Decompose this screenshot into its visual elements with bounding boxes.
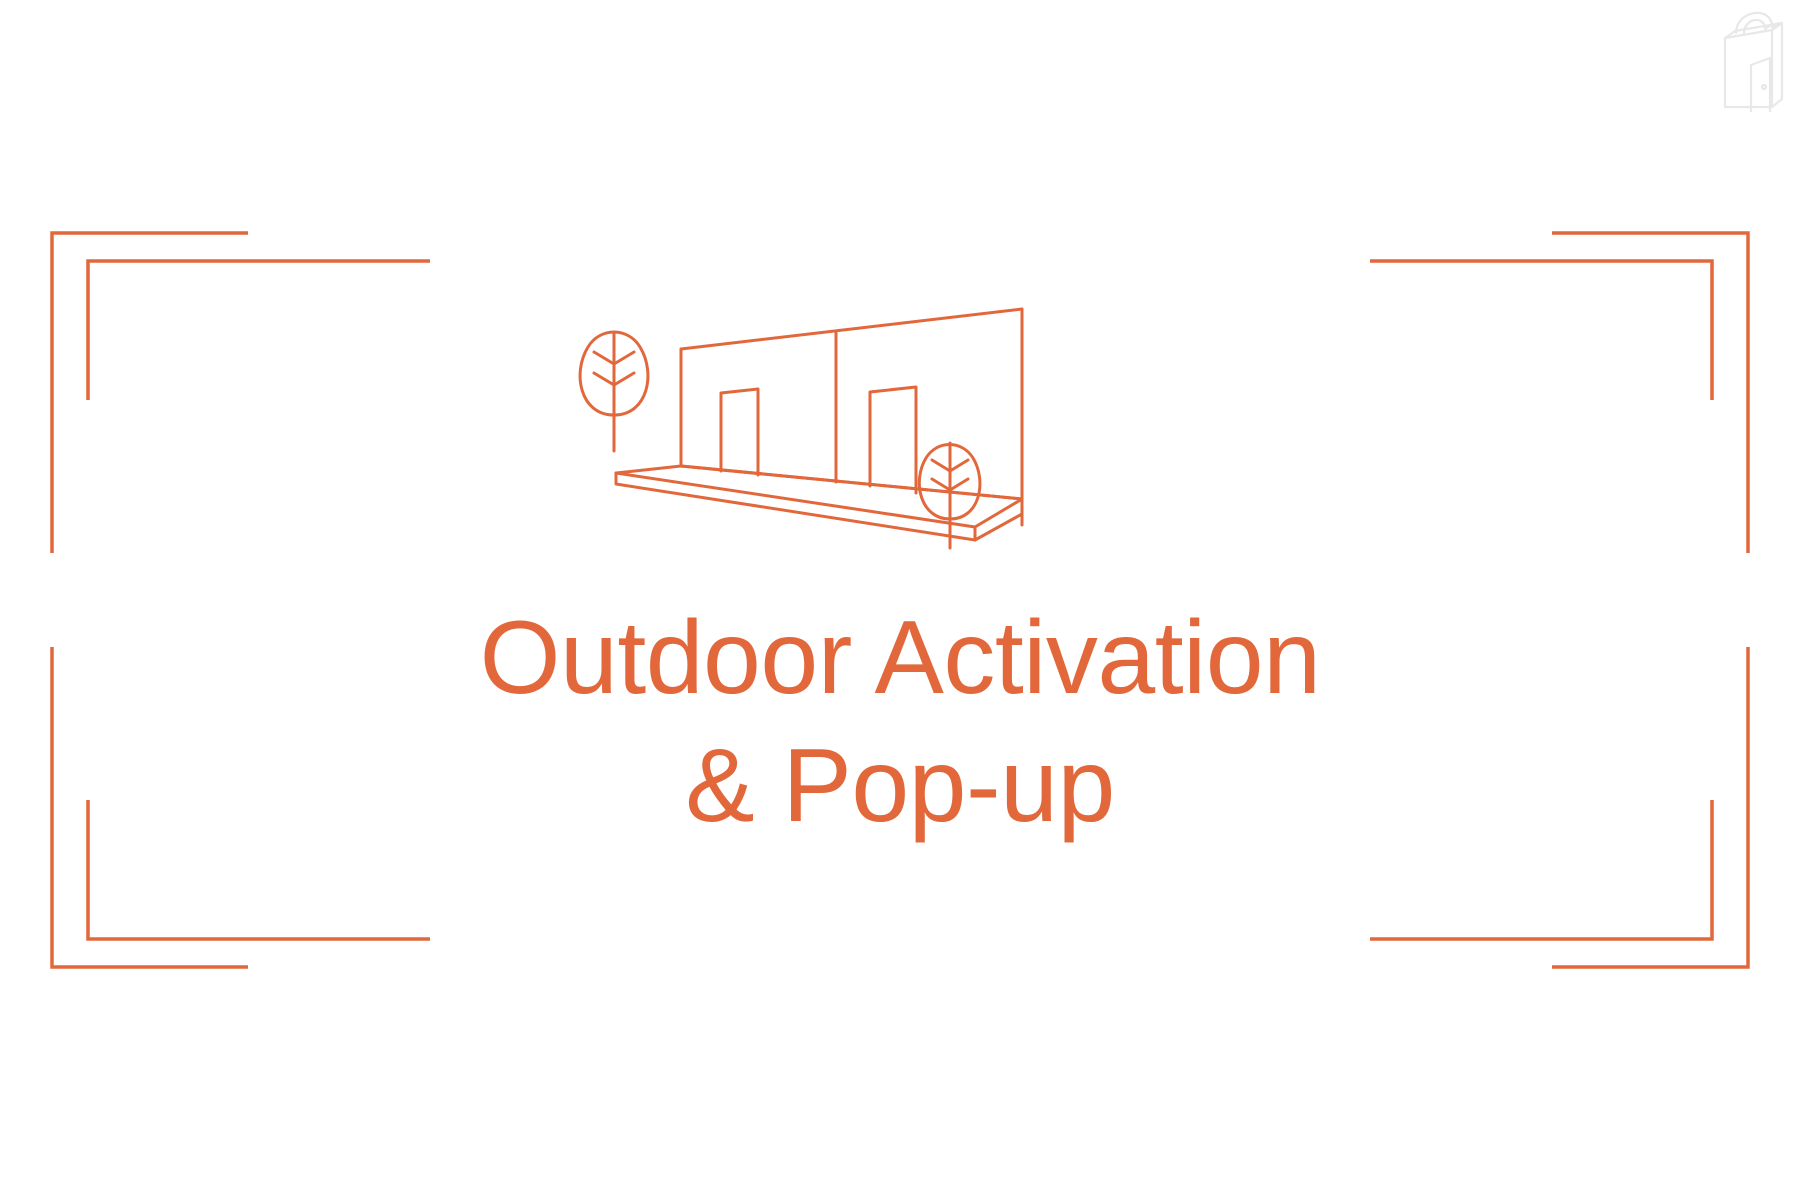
- facade-top-edge: [681, 309, 1022, 349]
- tree-right-branch-1l: [932, 460, 950, 471]
- doorway-left: [721, 389, 758, 475]
- title-line-1: Outdoor Activation: [0, 595, 1800, 723]
- bracket-top-right-outer: [1552, 233, 1748, 553]
- tree-left-branch-1r: [614, 352, 634, 364]
- platform-right-edge: [975, 499, 1022, 540]
- tree-left-branch-2r: [614, 373, 634, 385]
- doorway-right: [870, 387, 916, 493]
- title-block: Outdoor Activation & Pop-up: [0, 595, 1800, 851]
- tree-right-branch-2l: [932, 479, 950, 490]
- title-line-2: & Pop-up: [0, 723, 1800, 851]
- tree-right-branch-1r: [950, 460, 968, 471]
- bracket-top-left-outer: [52, 233, 248, 553]
- bracket-top-right-inner: [1370, 261, 1712, 400]
- shopping-bag-icon: [1698, 2, 1794, 112]
- outdoor-storefront-illustration: [560, 285, 1060, 545]
- tree-left-branch-2l: [594, 373, 614, 385]
- tree-right-branch-2r: [950, 479, 968, 490]
- tree-left-branch-1l: [594, 352, 614, 364]
- bracket-top-left-inner: [88, 261, 430, 400]
- platform-front: [616, 473, 975, 540]
- tree-left: [580, 332, 648, 451]
- slide-root: Outdoor Activation & Pop-up: [0, 0, 1800, 1200]
- storefront-scene-icon: [560, 285, 1060, 555]
- brand-logo: [1698, 2, 1794, 112]
